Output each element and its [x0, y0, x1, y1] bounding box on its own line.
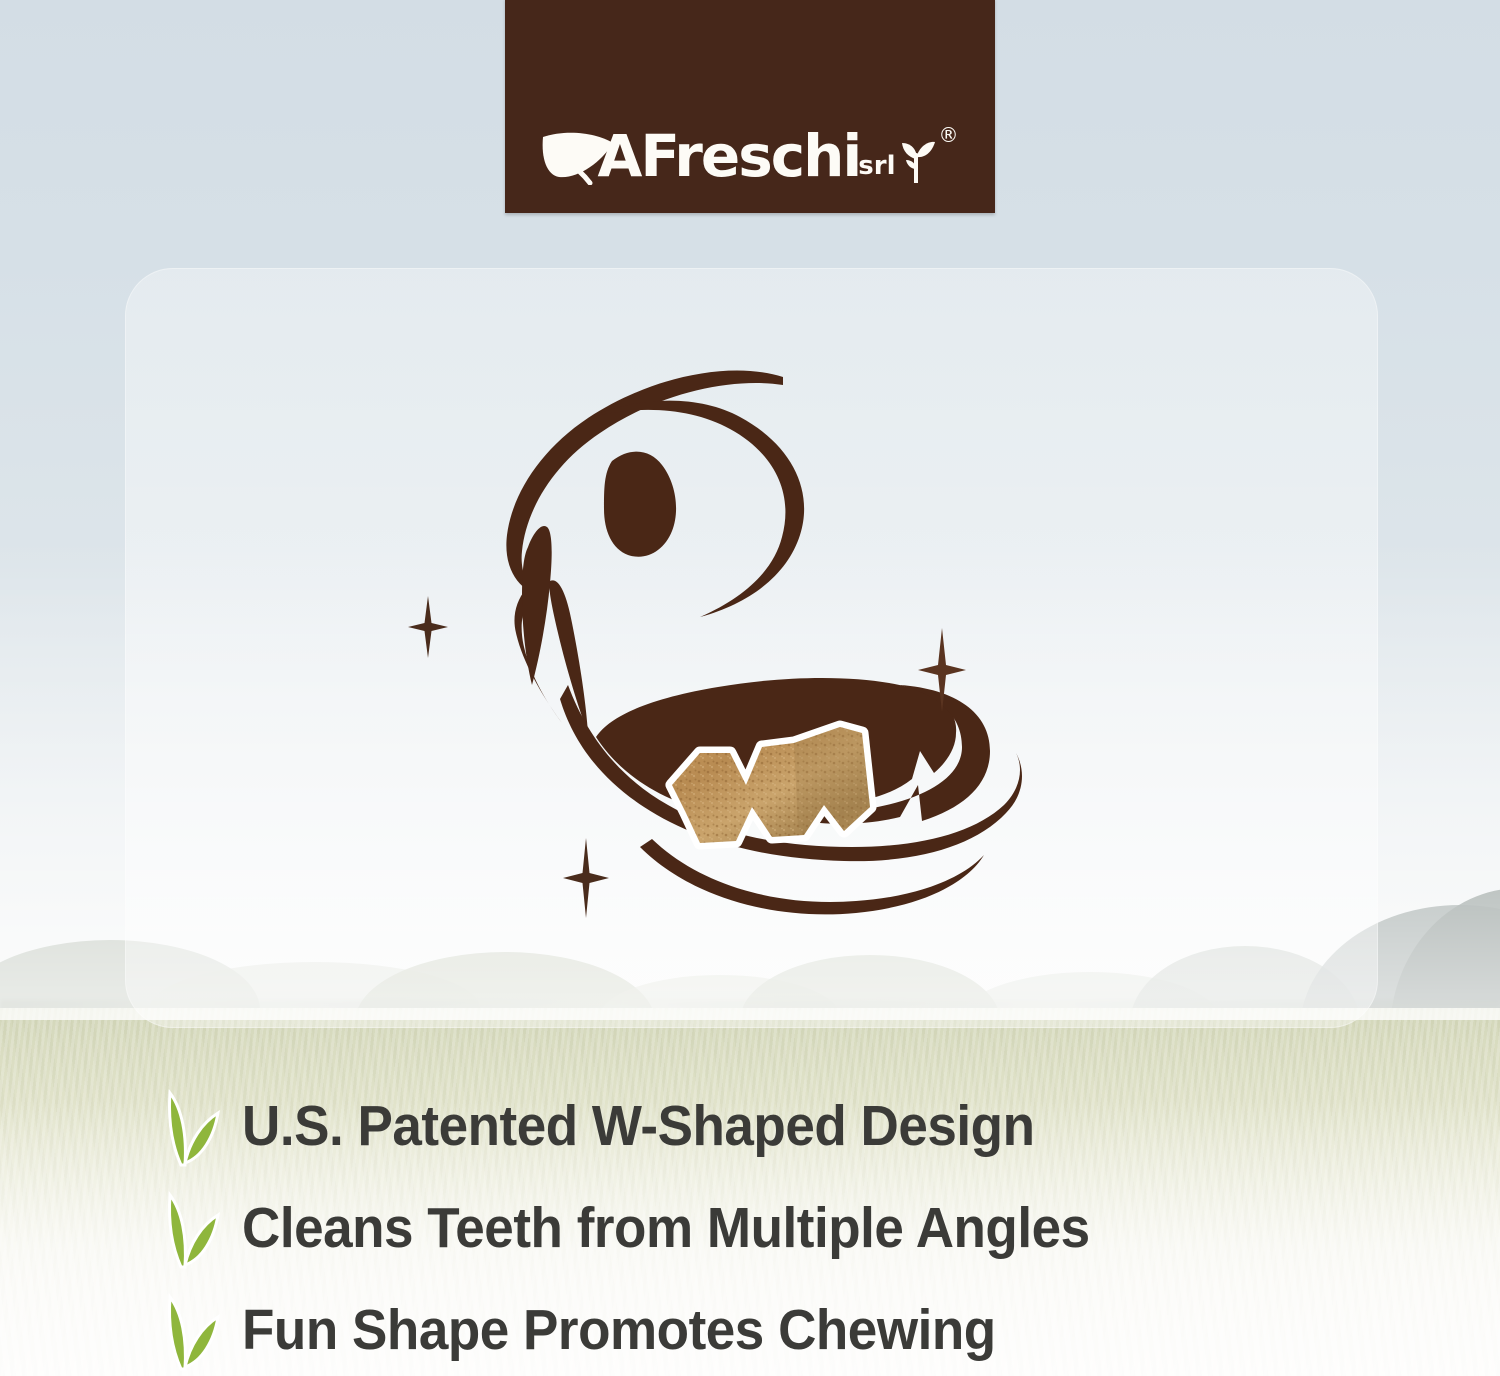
leaf-sprout-icon [148, 1085, 220, 1167]
sprout-icon [899, 133, 935, 183]
brand-logo: AFreschi srl ® [541, 127, 958, 185]
feature-label: U.S. Patented W-Shaped Design [242, 1098, 1034, 1155]
leaf-sprout-icon [148, 1289, 220, 1371]
brand-suffix: srl [858, 151, 895, 181]
sparkle-icon [563, 838, 609, 923]
brand-banner: AFreschi srl ® [505, 0, 995, 213]
list-item: Fun Shape Promotes Chewing [148, 1282, 1448, 1376]
list-item: U.S. Patented W-Shaped Design [148, 1078, 1448, 1174]
list-item: Cleans Teeth from Multiple Angles [148, 1180, 1448, 1276]
feature-label: Cleans Teeth from Multiple Angles [242, 1200, 1090, 1257]
product-feature-banner: AFreschi srl ® U.S. Patented W- [0, 0, 1500, 1376]
sparkle-icon [918, 628, 966, 717]
sparkle-icon [408, 596, 448, 663]
registered-mark-icon: ® [939, 123, 959, 147]
leaf-sprout-icon [148, 1187, 220, 1269]
feature-label: Fun Shape Promotes Chewing [242, 1302, 996, 1359]
feature-list: U.S. Patented W-Shaped Design Cleans Tee… [148, 1078, 1448, 1376]
brand-name: AFreschi [597, 127, 860, 185]
